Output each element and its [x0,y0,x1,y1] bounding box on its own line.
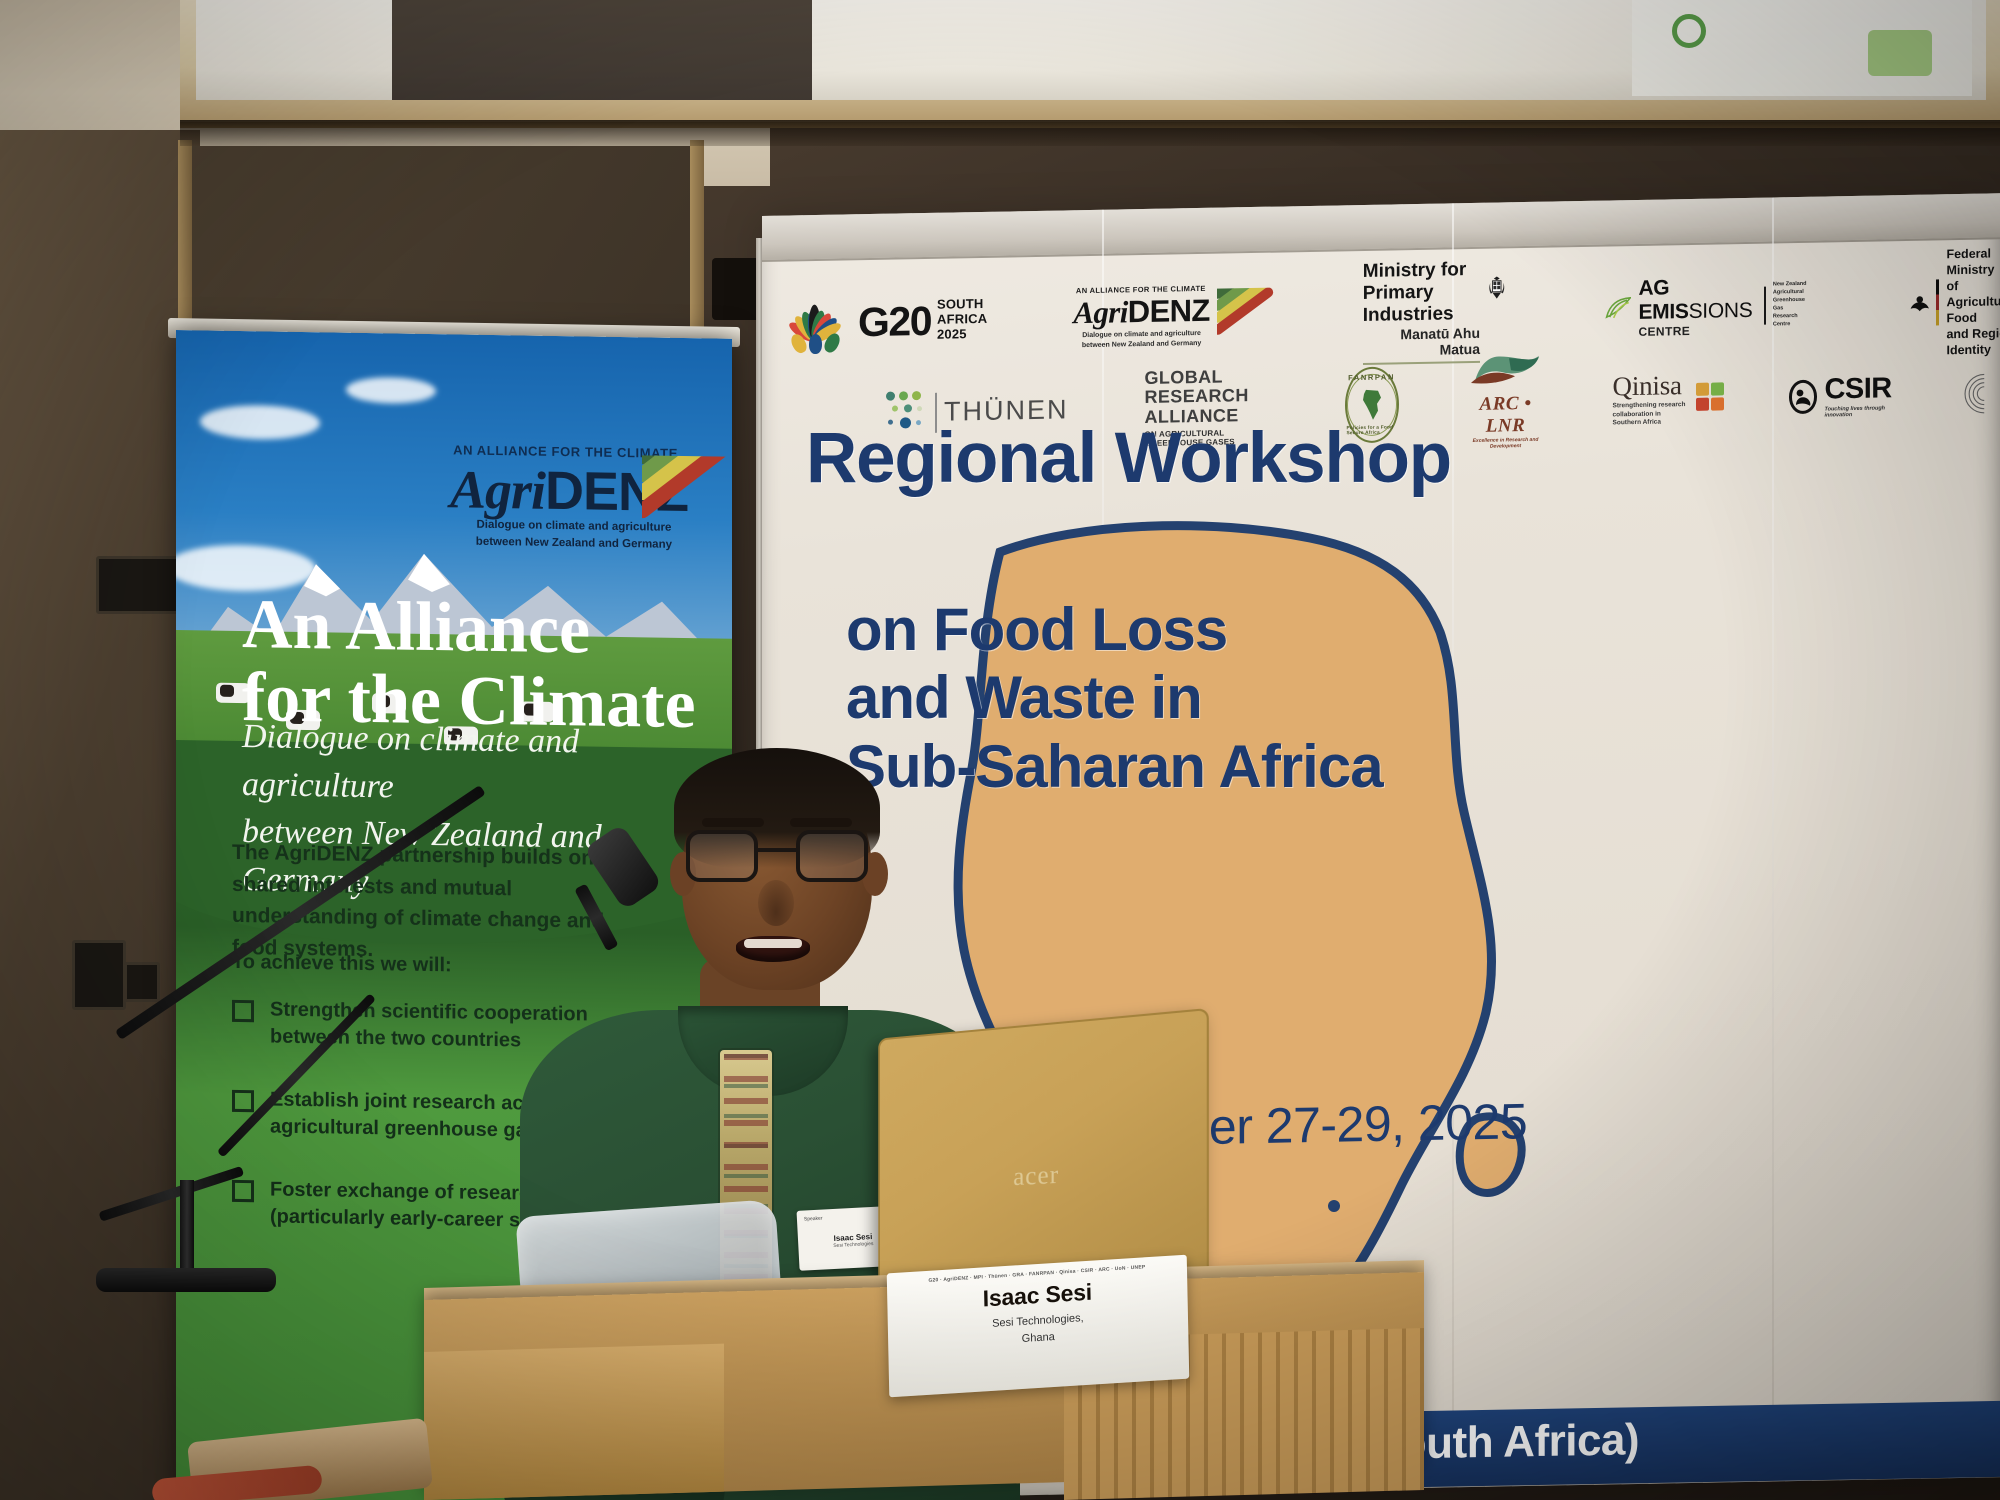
wall-socket [124,962,160,1002]
g20-sub-2: AFRICA [937,311,987,327]
africa-silhouette-icon [1359,388,1385,420]
german-federal-ministry-logo: Federal Ministry of Agriculture, Food an… [1910,245,2000,359]
g20-protea-icon [777,291,851,354]
csir-mark-icon [1789,379,1818,414]
speaker-glasses [686,830,868,884]
banner-headline: Regional Workshop [806,418,1986,499]
agridenz-sub-2: between New Zealand and Germany [1073,338,1209,350]
agridenz-swoosh-icon [1217,288,1279,343]
ag-emissions-micro: New Zealand Agricultural Greenhouse Gas … [1773,281,1808,329]
ag-emissions-wordmark: AG EMISSIONS [1638,275,1757,325]
qinisa-wordmark: Qinisa [1613,370,1689,402]
speaker-brow-right [790,818,852,827]
banner-subheadline: on Food Loss and Waste in Sub-Saharan Af… [846,596,1986,801]
projection-screen [196,0,1986,100]
speaker-brow-left [702,818,764,827]
ag-emissions-thin: SIONS [1689,299,1753,323]
g20-wordmark: G20 [858,298,931,346]
lectern-front-panel [424,1344,724,1500]
glasses-bridge [758,848,796,852]
agridenz-word-bold: DENZ [1128,293,1210,330]
sdsn-swirl-icon [1963,362,2000,425]
de-line-1: Federal Ministry [1946,245,2000,279]
ag-micro-3: Greenhouse Gas [1773,297,1808,314]
ag-emissions-centre-logo: AG EMISSIONS CENTRE New Zealand Agricult… [1605,274,1808,340]
glasses-lens-left [686,830,758,882]
speaker-place-card: G20 · AgriDENZ · MPI · Thünen · GRA · FA… [887,1255,1190,1398]
g20-south-africa-logo: G20 SOUTH AFRICA 2025 [777,289,987,355]
nz-coat-of-arms-icon [1487,258,1507,316]
qinisa-puzzle-icon [1696,383,1719,413]
arc-swoosh-icon [1469,354,1543,389]
wall-plate-upper [96,556,182,614]
ceiling-shadow [180,120,2000,146]
csir-glyph-icon [1793,386,1813,406]
speaker-nose [758,880,794,926]
csir-wordmark: CSIR [1824,372,1897,406]
agridenz-wordmark: AgriDENZ [1073,293,1209,332]
wall-plate-lower [72,940,126,1010]
ag-micro-4: Research Centre [1773,313,1808,330]
gra-line-2: RESEARCH [1145,386,1265,408]
csir-tagline: Touching lives through innovation [1824,405,1897,418]
microphone-base [96,1268,276,1292]
csir-logo: CSIR Touching lives through innovation [1789,372,1897,419]
mpi-title: Ministry for Primary Industries [1363,259,1480,327]
glasses-lens-right [796,830,868,882]
laptop-brand-logo: acer [1013,1160,1059,1192]
ministry-for-primary-industries-logo: Ministry for Primary Industries Manatū A… [1363,258,1507,365]
ag-emissions-bold: AG EMIS [1638,276,1688,324]
g20-sub-3: 2025 [937,326,987,342]
german-flag-bar [1936,279,1939,325]
bundes-eagle-icon [1910,289,1930,317]
de-line-2: of Agriculture, Food [1946,277,2000,327]
agridenz-word-light: Agri [1073,294,1127,330]
speaker-mouth [736,936,810,962]
g20-sub-1: SOUTH [937,296,987,312]
ag-emissions-divider [1764,287,1766,325]
speaker-teeth [744,939,802,948]
german-ministry-text: Federal Ministry of Agriculture, Food an… [1946,245,2000,359]
photograph-scene: G20 SOUTH AFRICA 2025 AN ALLIANCE FOR TH… [0,0,2000,1500]
slide-circle-icon [1672,14,1706,48]
subheadline-line-2: and Waste in [846,664,1986,732]
slide-shape [1868,30,1932,76]
qinisa-tag-1: Strengthening research [1613,401,1689,411]
projection-screen-shadow [392,0,812,100]
fanrpan-top-text: FANRPAN [1348,372,1395,382]
ag-emissions-leaf-icon [1605,293,1632,323]
subheadline-line-3: Sub-Saharan Africa [846,733,1986,801]
sdsn-logo: SUSTAINABLE DEVELOPMENT SOLUTIONS NETWOR… [1963,360,2000,425]
projected-slide-fragment [1632,0,1972,96]
mpi-subtitle: Manatū Ahu Matua [1363,325,1480,359]
microphone-stand-shaft [180,1180,194,1280]
agridenz-logo: AN ALLIANCE FOR THE CLIMATE AgriDENZ Dia… [1073,283,1278,351]
subheadline-line-1: on Food Loss [846,596,1986,664]
ag-emissions-sub: CENTRE [1638,323,1757,339]
